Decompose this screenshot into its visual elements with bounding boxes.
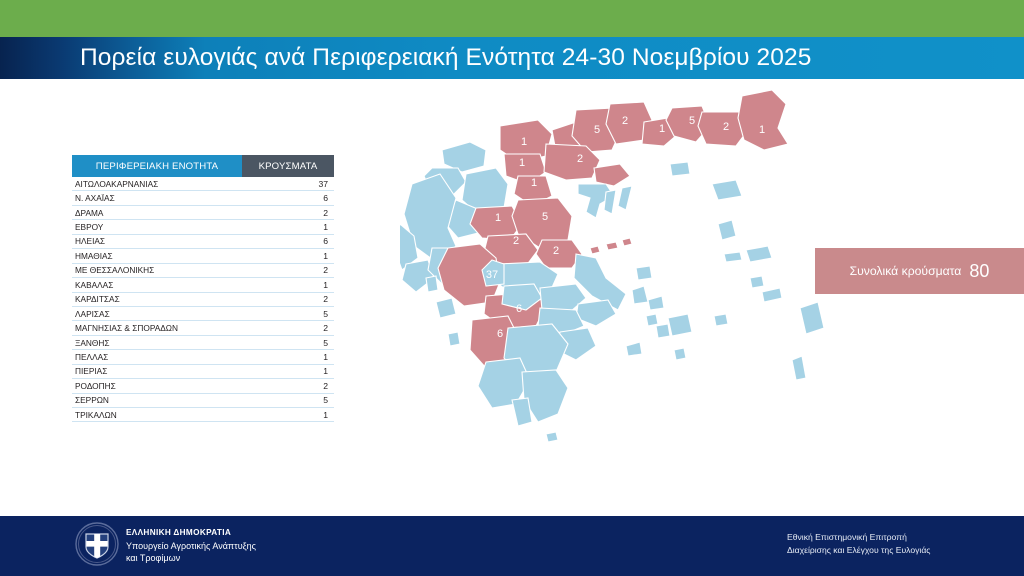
map-regions — [400, 90, 824, 508]
cell-cases: 1 — [242, 408, 334, 422]
cell-region: ΑΙΤΩΛΟΑΚΑΡΝΑΝΙΑΣ — [72, 177, 242, 191]
committee-line-2: Διαχείρισης και Ελέγχου της Ευλογιάς — [787, 544, 930, 557]
map-label-trikalon: 1 — [495, 212, 501, 224]
table-header: ΠΕΡΙΦΕΡΕΙΑΚΗ ΕΝΟΤΗΤΑ ΚΡΟΥΣΜΑΤΑ — [72, 155, 334, 177]
map-label-imathias: 1 — [519, 157, 525, 169]
region-syros — [646, 314, 658, 326]
map-label-aitoloakarnanias: 37 — [486, 269, 498, 281]
cell-cases: 6 — [242, 191, 334, 205]
cell-region: ΡΟΔΟΠΗΣ — [72, 379, 242, 393]
cases-table: ΠΕΡΙΦΕΡΕΙΑΚΗ ΕΝΟΤΗΤΑ ΚΡΟΥΣΜΑΤΑ ΑΙΤΩΛΟΑΚΑ… — [72, 155, 334, 422]
table-row: ΞΑΝΘΗΣ5 — [72, 335, 334, 349]
table-body: ΑΙΤΩΛΟΑΚΑΡΝΑΝΙΑΣ37Ν. ΑΧΑΪΑΣ6ΔΡΑΜΑ2ΕΒΡΟΥ1… — [72, 177, 334, 422]
map-label-magnisias: 2 — [553, 245, 559, 257]
region-chiou — [718, 220, 736, 240]
region-kos — [762, 288, 782, 302]
table-row: ΚΑΒΑΛΑΣ1 — [72, 278, 334, 292]
cell-region: ΤΡΙΚΑΛΩΝ — [72, 408, 242, 422]
region-santorini — [674, 348, 686, 360]
cell-cases: 1 — [242, 220, 334, 234]
region-sporades — [590, 246, 600, 254]
committee-line-1: Εθνική Επιστημονική Επιτροπή — [787, 531, 930, 544]
cell-cases: 2 — [242, 379, 334, 393]
map-label-larisas: 5 — [542, 211, 548, 223]
map-label-ileias: 6 — [497, 328, 503, 340]
cell-region: ΚΑΒΑΛΑΣ — [72, 278, 242, 292]
map-label-pellas: 1 — [521, 136, 527, 148]
map-label-xanthis: 5 — [689, 115, 695, 127]
ministry-line-1: ΕΛΛΗΝΙΚΗ ΔΗΜΟΚΡΑΤΙΑ — [126, 527, 256, 540]
region-ikarias — [724, 252, 742, 262]
table-row: ΕΒΡΟΥ1 — [72, 220, 334, 234]
region-naxos — [668, 314, 692, 336]
table-row: ΣΕΡΡΩΝ5 — [72, 393, 334, 407]
region-zakynthos — [448, 332, 460, 346]
region-sporades-2 — [606, 242, 618, 250]
map-label-karditsas: 2 — [513, 235, 519, 247]
cell-cases: 5 — [242, 306, 334, 320]
map-label-rodopis: 2 — [723, 121, 729, 133]
cell-region: ΞΑΝΘΗΣ — [72, 335, 242, 349]
map-label-thessalonikis: 2 — [577, 153, 583, 165]
cell-cases: 5 — [242, 335, 334, 349]
map-label-dramas: 2 — [622, 115, 628, 127]
table-row: Ν. ΑΧΑΪΑΣ6 — [72, 191, 334, 205]
cell-cases: 2 — [242, 321, 334, 335]
cell-cases: 1 — [242, 364, 334, 378]
region-mani — [512, 398, 532, 426]
region-kalymnos — [750, 276, 764, 288]
table-row: ΡΟΔΟΠΗΣ2 — [72, 379, 334, 393]
cell-region: ΔΡΑΜΑ — [72, 205, 242, 219]
table-row: ΗΜΑΘΙΑΣ1 — [72, 249, 334, 263]
ministry-line-3: και Τροφίμων — [126, 552, 256, 565]
region-sporades-3 — [622, 238, 632, 246]
cell-cases: 2 — [242, 263, 334, 277]
top-green-accent-bar — [0, 0, 1024, 37]
table-row: ΛΑΡΙΣΑΣ5 — [72, 306, 334, 320]
table-row: ΠΕΛΛΑΣ1 — [72, 350, 334, 364]
region-karpathos — [792, 356, 806, 380]
ministry-line-2: Υπουργείο Αγροτικής Ανάπτυξης — [126, 540, 256, 553]
table-header-row: ΠΕΡΙΦΕΡΕΙΑΚΗ ΕΝΟΤΗΤΑ ΚΡΟΥΣΜΑΤΑ — [72, 155, 334, 177]
cell-cases: 5 — [242, 393, 334, 407]
cases-table-panel: ΠΕΡΙΦΕΡΕΙΑΚΗ ΕΝΟΤΗΤΑ ΚΡΟΥΣΜΑΤΑ ΑΙΤΩΛΟΑΚΑ… — [72, 155, 334, 422]
column-header-region: ΠΕΡΙΦΕΡΕΙΑΚΗ ΕΝΟΤΗΤΑ — [72, 155, 242, 177]
region-lefkada — [426, 276, 438, 292]
region-rodou — [800, 302, 824, 334]
table-row: ΜΑΓΝΗΣΙΑΣ & ΣΠΟΡΑΔΩΝ2 — [72, 321, 334, 335]
map-label-kavalas: 1 — [659, 123, 665, 135]
table-row: ΠΙΕΡΙΑΣ1 — [72, 364, 334, 378]
map-label-pierias: 1 — [531, 177, 537, 189]
region-limnos — [670, 162, 690, 176]
map-label-serron: 5 — [594, 124, 600, 136]
greece-choropleth-map: 152152112115223766 — [400, 88, 960, 508]
map-label-achaias: 6 — [516, 303, 522, 315]
total-cases-value: 80 — [969, 261, 989, 282]
title-bar: Πορεία ευλογιάς ανά Περιφερειακή Ενότητα… — [0, 37, 1024, 79]
cell-cases: 1 — [242, 249, 334, 263]
region-andros — [632, 286, 648, 304]
cell-region: ΗΛΕΙΑΣ — [72, 234, 242, 248]
cell-cases: 6 — [242, 234, 334, 248]
region-skyros — [636, 266, 652, 280]
region-paros — [656, 324, 670, 338]
cell-region: ΜΑΓΝΗΣΙΑΣ & ΣΠΟΡΑΔΩΝ — [72, 321, 242, 335]
cell-cases: 2 — [242, 292, 334, 306]
column-header-cases: ΚΡΟΥΣΜΑΤΑ — [242, 155, 334, 177]
table-row: ΚΑΡΔΙΤΣΑΣ2 — [72, 292, 334, 306]
cell-cases: 37 — [242, 177, 334, 191]
committee-block: Εθνική Επιστημονική Επιτροπή Διαχείρισης… — [787, 531, 930, 556]
region-samou — [746, 246, 772, 262]
table-row: ΤΡΙΚΑΛΩΝ1 — [72, 408, 334, 422]
greek-coat-of-arms-icon — [74, 521, 120, 567]
page-title: Πορεία ευλογιάς ανά Περιφερειακή Ενότητα… — [80, 46, 811, 71]
region-chalkidikis — [594, 164, 630, 186]
cell-cases: 1 — [242, 350, 334, 364]
cell-cases: 2 — [242, 205, 334, 219]
region-athos — [618, 186, 632, 210]
table-row: ΗΛΕΙΑΣ6 — [72, 234, 334, 248]
cell-region: Ν. ΑΧΑΪΑΣ — [72, 191, 242, 205]
region-lesvou — [712, 180, 742, 200]
cell-region: ΣΕΡΡΩΝ — [72, 393, 242, 407]
cell-region: ΗΜΑΘΙΑΣ — [72, 249, 242, 263]
cell-region: ΕΒΡΟΥ — [72, 220, 242, 234]
table-row: ΔΡΑΜΑ2 — [72, 205, 334, 219]
cell-region: ΛΑΡΙΣΑΣ — [72, 306, 242, 320]
table-row: ΜΕ ΘΕΣΣΑΛΟΝΙΚΗΣ2 — [72, 263, 334, 277]
cell-cases: 1 — [242, 278, 334, 292]
cell-region: ΜΕ ΘΕΣΣΑΛΟΝΙΚΗΣ — [72, 263, 242, 277]
map-label-evrou: 1 — [759, 124, 765, 136]
cell-region: ΠΙΕΡΙΑΣ — [72, 364, 242, 378]
table-row: ΑΙΤΩΛΟΑΚΑΡΝΑΝΙΑΣ37 — [72, 177, 334, 191]
cell-region: ΠΕΛΛΑΣ — [72, 350, 242, 364]
region-sithonia — [604, 190, 616, 214]
region-kefalonia — [436, 298, 456, 318]
region-tinos — [648, 296, 664, 310]
region-evrou — [738, 90, 788, 150]
cell-region: ΚΑΡΔΙΤΣΑΣ — [72, 292, 242, 306]
region-milos — [626, 342, 642, 356]
ministry-block: ΕΛΛΗΝΙΚΗ ΔΗΜΟΚΡΑΤΙΑ Υπουργείο Αγροτικής … — [126, 527, 256, 565]
region-astypalaia — [714, 314, 728, 326]
region-kythira — [546, 432, 558, 442]
